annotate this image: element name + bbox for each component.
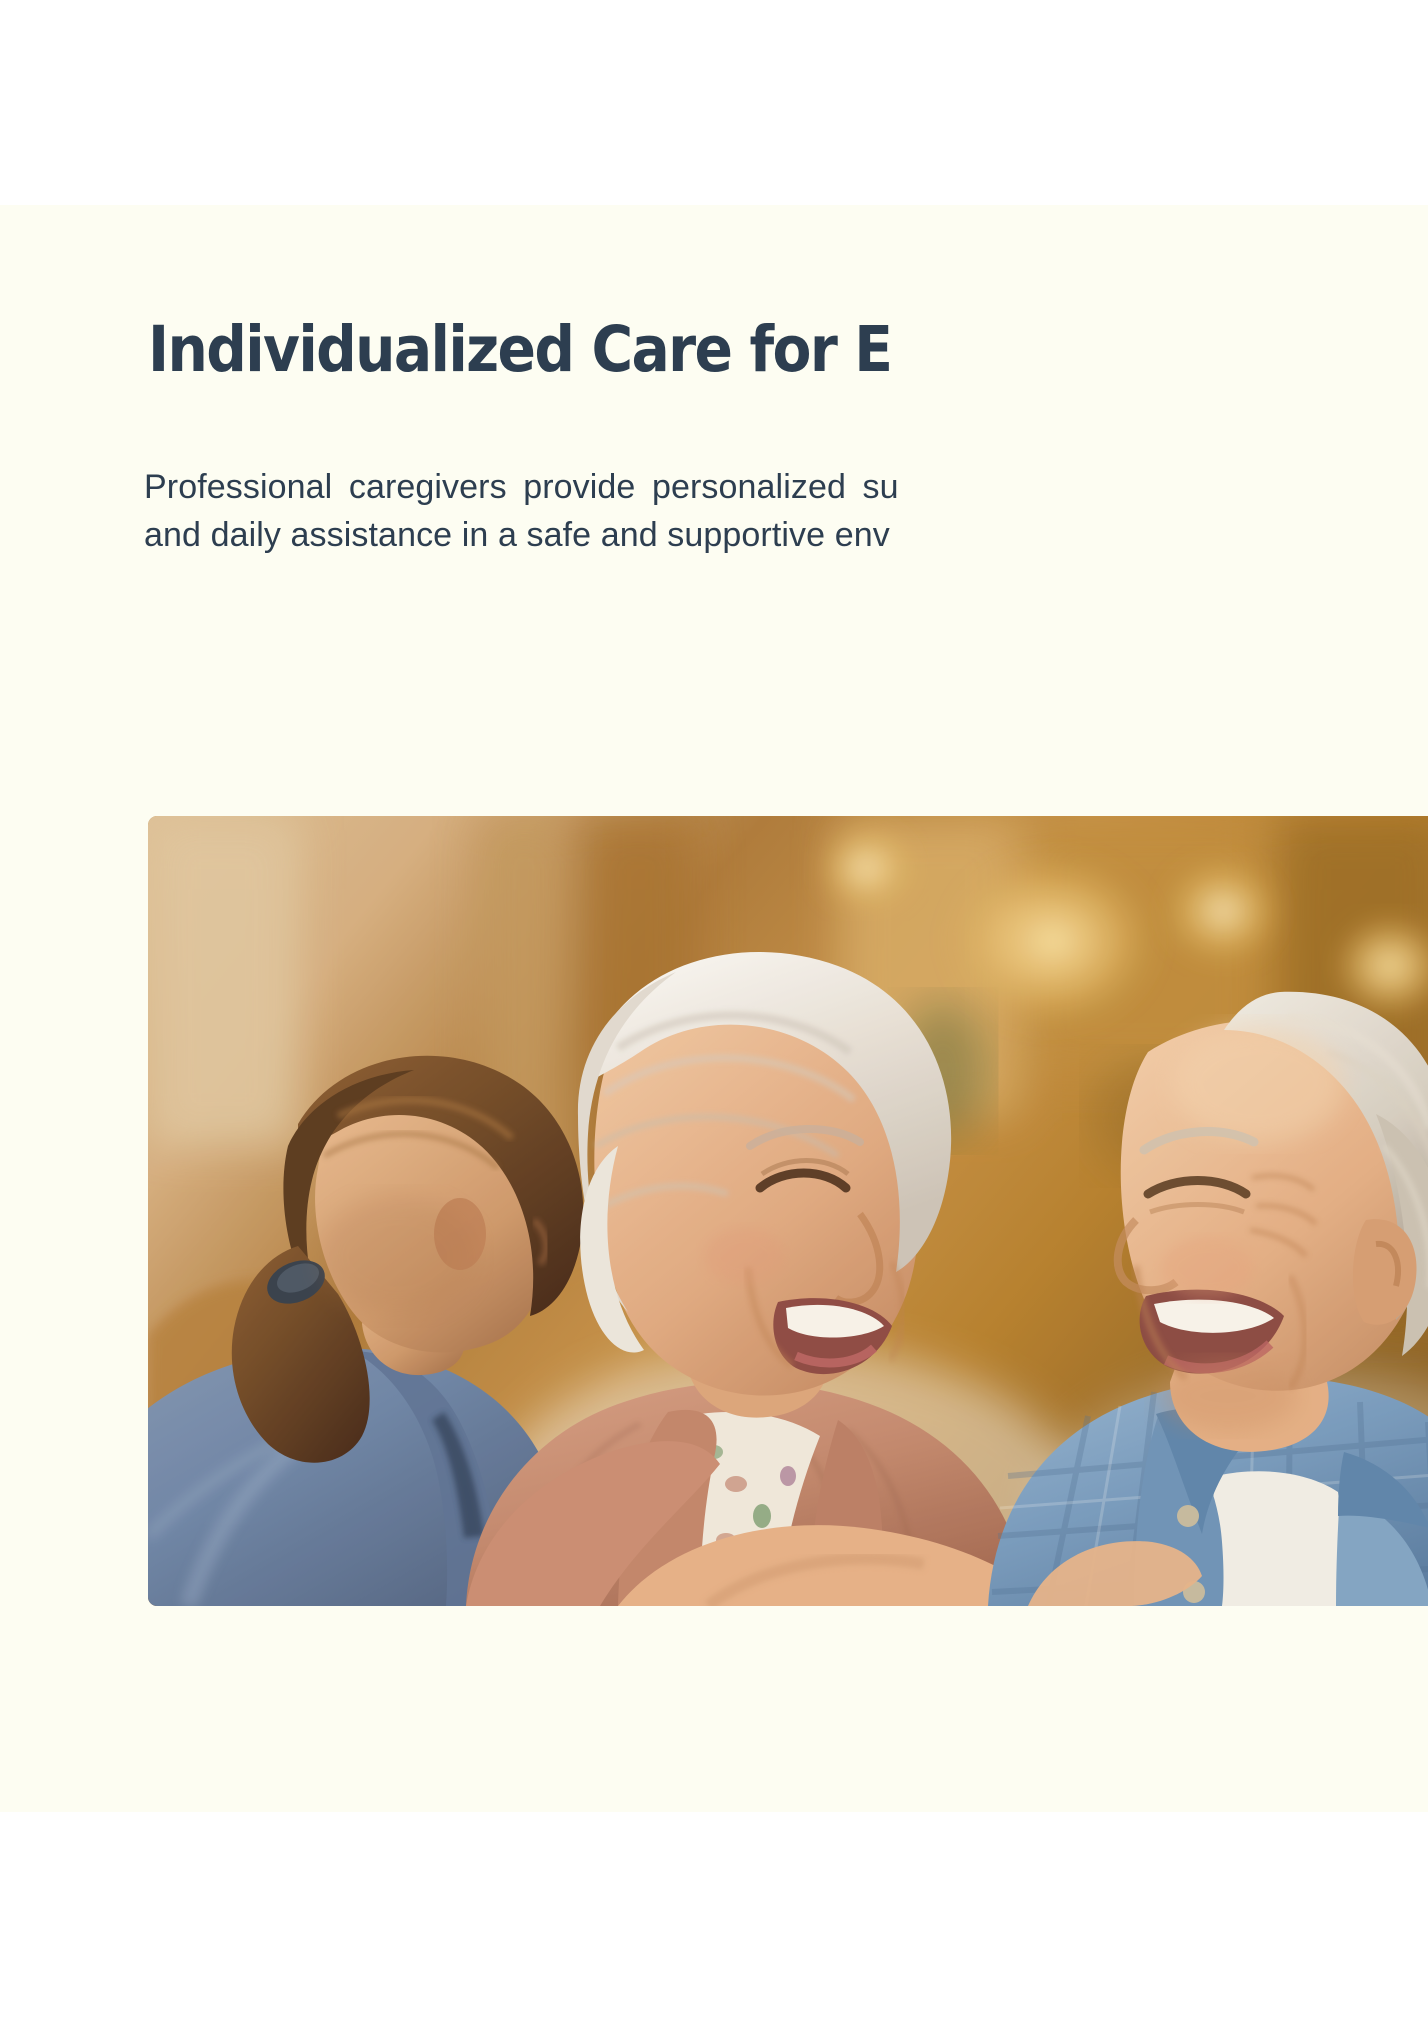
page-title: Individualized Care for E	[148, 316, 1428, 384]
page-root: Individualized Care for E Professional c…	[0, 0, 1428, 2018]
hero-image-illustration	[148, 816, 1428, 1606]
hero-subtitle-line-1: Professional caregivers provide personal…	[144, 463, 1428, 511]
hero-subtitle: Professional caregivers provide personal…	[144, 463, 1428, 560]
hero-subtitle-line-2: and daily assistance in a safe and suppo…	[144, 511, 1428, 559]
hero-image	[148, 816, 1428, 1606]
